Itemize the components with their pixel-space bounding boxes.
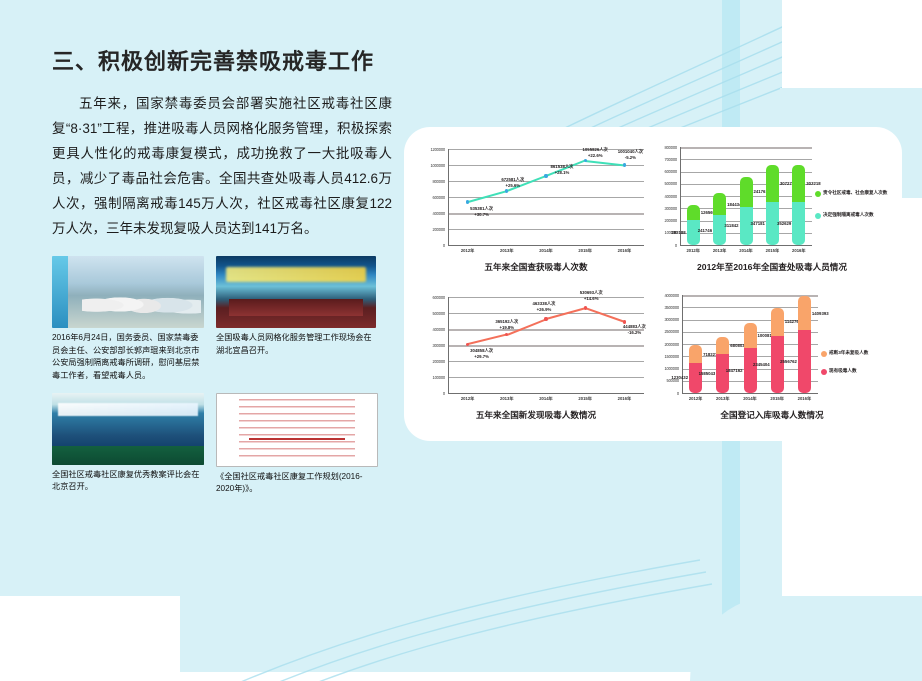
- data-label: 530693人次+14.6%: [580, 290, 603, 301]
- gridline: [448, 229, 644, 230]
- y-axis-tick: 100000: [422, 375, 445, 380]
- y-axis-tick: 400000: [422, 211, 445, 216]
- legend-label: 责令社区戒毒、社会康复人次数: [823, 190, 888, 197]
- y-axis-tick: 1200000: [422, 147, 445, 152]
- y-axis-tick: 0: [654, 391, 679, 396]
- legend-label: 决定强制隔离戒毒人次数: [823, 212, 888, 219]
- stacked-bar: [740, 177, 753, 245]
- data-point: [544, 174, 547, 177]
- data-label: 1055826人次+22.6%: [583, 147, 608, 158]
- photo-item: 2016年6月24日，国务委员、国家禁毒委员会主任、公安部部长郭声琨来到北京市公…: [52, 256, 204, 383]
- y-axis-tick: 600000: [422, 295, 445, 300]
- photo-work-plan-document: [216, 393, 378, 467]
- data-label: 535381人次+30.7%: [470, 206, 493, 217]
- data-point: [584, 306, 587, 309]
- x-axis-tick: 2014年: [736, 396, 763, 402]
- y-axis-tick: 400000: [654, 194, 677, 199]
- gridline: [448, 181, 644, 182]
- bar-segment-bottom: [771, 336, 784, 393]
- charts-panel: 0200000400000600000800000100000012000005…: [404, 127, 902, 441]
- bar-segment-top: [740, 177, 753, 207]
- y-axis-tick: 200000: [654, 218, 677, 223]
- photo-grid: 2016年6月24日，国务委员、国家禁毒委员会主任、公安部部长郭声琨来到北京市公…: [52, 256, 388, 496]
- y-axis-tick: 600000: [422, 195, 445, 200]
- y-axis-tick: 200000: [422, 227, 445, 232]
- bar-segment-top: [798, 296, 811, 331]
- x-axis-tick: 2012年: [448, 248, 487, 254]
- photo-item: 全国社区戒毒社区康复优秀教案评比会在北京召开。: [52, 393, 204, 496]
- x-axis: [448, 393, 644, 394]
- data-label: 2345404: [753, 362, 770, 367]
- bar-segment-bottom: [689, 363, 702, 393]
- legend-label: 现有吸毒人数: [829, 368, 888, 375]
- photo-inspection: [52, 256, 204, 328]
- data-label: 304858人次+29.7%: [470, 348, 493, 359]
- chart-registered-drug-users: 0500000100000015000002000000250000030000…: [654, 289, 890, 429]
- data-label: 718227: [703, 352, 717, 357]
- photo-item: 全国吸毒人员网格化服务管理工作现场会在湖北宜昌召开。: [216, 256, 376, 383]
- stacked-bar: [713, 193, 726, 245]
- y-axis-tick: 400000: [422, 327, 445, 332]
- data-label: 352629: [777, 221, 791, 226]
- stacked-bar: [744, 323, 757, 393]
- x-axis-tick: 2012年: [680, 248, 706, 254]
- y-axis-tick: 300000: [422, 343, 445, 348]
- photo-caption: 2016年6月24日，国务委员、国家禁毒委员会主任、公安部部长郭声琨来到北京市公…: [52, 332, 204, 383]
- photo-caption: 《全国社区戒毒社区康复工作规划(2016-2020年)》。: [216, 471, 376, 496]
- x-axis-tick: 2013年: [709, 396, 736, 402]
- data-label: 1230432: [671, 375, 688, 380]
- x-axis-tick: 2015年: [566, 248, 605, 254]
- y-axis-tick: 0: [422, 243, 445, 248]
- y-axis-tick: 0: [422, 391, 445, 396]
- y-axis: [448, 297, 449, 393]
- line-segment: [585, 307, 625, 322]
- y-axis-tick: 1000000: [422, 163, 445, 168]
- x-axis-tick: 2015年: [759, 248, 785, 254]
- x-axis: [448, 245, 644, 246]
- gridline: [448, 329, 644, 331]
- gridline: [448, 297, 644, 298]
- legend-marker: [815, 191, 821, 197]
- bar-segment-top: [689, 345, 702, 363]
- bar-segment-bottom: [744, 348, 757, 393]
- gridline: [680, 159, 812, 160]
- x-axis: [680, 245, 812, 246]
- legend-marker: [821, 351, 827, 357]
- x-axis-tick: 2013年: [487, 248, 526, 254]
- data-label: 241746: [698, 228, 712, 233]
- data-label: 365192人次+19.8%: [495, 319, 518, 330]
- y-axis-tick: 800000: [654, 145, 677, 150]
- photo-grid-service-meeting: [216, 256, 376, 328]
- x-axis-tick: 2016年: [791, 396, 818, 402]
- y-axis-tick: 300000: [654, 206, 677, 211]
- data-point: [584, 159, 587, 162]
- data-label: 861538人次+28.1%: [551, 164, 574, 175]
- photo-teaching-case-review: [52, 393, 204, 465]
- y-axis-tick: 0: [654, 243, 677, 248]
- y-axis: [448, 149, 449, 245]
- y-axis-tick: 800000: [422, 179, 445, 184]
- data-label: 203188: [671, 230, 685, 235]
- x-axis-tick: 2013年: [487, 396, 526, 402]
- x-axis: [682, 393, 818, 394]
- bar-segment-top: [713, 193, 726, 216]
- y-axis-tick: 600000: [654, 169, 677, 174]
- gridline: [680, 147, 812, 149]
- stacked-bar: [771, 308, 784, 393]
- x-axis-tick: 2016年: [786, 248, 812, 254]
- gridline: [448, 165, 644, 166]
- data-label: 1585043: [699, 371, 716, 376]
- data-point: [505, 189, 508, 192]
- legend-label: 戒断3年未复吸人数: [829, 350, 888, 357]
- x-axis-tick: 2012年: [448, 396, 487, 402]
- data-label: 1409393: [812, 311, 829, 316]
- data-label: 303218: [806, 181, 820, 186]
- gridline: [448, 361, 644, 362]
- x-axis-tick: 2014年: [733, 248, 759, 254]
- bar-segment-bottom: [716, 354, 729, 393]
- chart-title: 五年来全国新发现吸毒人数情况: [422, 409, 650, 421]
- x-axis-tick: 2016年: [605, 396, 644, 402]
- x-axis-tick: 2014年: [526, 248, 565, 254]
- data-label: 1847162: [726, 368, 743, 373]
- y-axis-tick: 500000: [654, 181, 677, 186]
- y-axis-tick: 500000: [422, 311, 445, 316]
- y-axis-tick: 4000000: [654, 293, 679, 298]
- body-paragraph: 五年来，国家禁毒委员会部署实施社区戒毒社区康复“8·31”工程，推进吸毒人员网格…: [52, 92, 392, 242]
- bar-segment-bottom: [713, 215, 726, 245]
- x-axis-tick: 2012年: [682, 396, 709, 402]
- y-axis-tick: 1000000: [654, 366, 679, 371]
- stacked-bar: [716, 337, 729, 393]
- y-axis-tick: 3000000: [654, 317, 679, 322]
- data-label: 1001040人次-5.2%: [618, 149, 643, 160]
- stacked-bar: [792, 165, 805, 245]
- y-axis-tick: 200000: [422, 359, 445, 364]
- data-label: 444883人次-16.2%: [623, 324, 646, 335]
- data-point: [544, 317, 547, 320]
- data-label: 672581人次+25.6%: [501, 177, 524, 188]
- bar-segment-top: [716, 337, 729, 354]
- data-label: 347181: [751, 221, 765, 226]
- bar-segment-bottom: [798, 330, 811, 393]
- gridline: [448, 149, 644, 150]
- bar-segment-top: [744, 323, 757, 348]
- data-label: 2556762: [780, 359, 797, 364]
- x-axis-tick: 2015年: [566, 396, 605, 402]
- photo-caption: 全国社区戒毒社区康复优秀教案评比会在北京召开。: [52, 469, 204, 494]
- stacked-bar: [689, 345, 702, 393]
- x-axis-tick: 2013年: [706, 248, 732, 254]
- line-segment: [467, 334, 507, 345]
- x-axis-tick: 2014年: [526, 396, 565, 402]
- chart-title: 2012年至2016年全国查处吸毒人员情况: [654, 261, 890, 273]
- stacked-bar: [798, 296, 811, 393]
- x-axis-tick: 2016年: [605, 248, 644, 254]
- chart-title: 全国登记入库吸毒人数情况: [654, 409, 890, 421]
- data-point: [623, 163, 626, 166]
- data-point: [505, 333, 508, 336]
- bar-segment-bottom: [792, 202, 805, 245]
- data-label: 311842: [724, 223, 738, 228]
- gridline: [448, 313, 644, 314]
- y-axis-tick: 2500000: [654, 329, 679, 334]
- x-axis-tick: 2015年: [764, 396, 791, 402]
- legend-marker: [821, 369, 827, 375]
- data-label: 463338人次+26.9%: [533, 301, 556, 312]
- photo-item: 《全国社区戒毒社区康复工作规划(2016-2020年)》。: [216, 393, 376, 496]
- y-axis-tick: 1500000: [654, 354, 679, 359]
- data-point: [466, 200, 469, 203]
- gridline: [448, 345, 644, 347]
- stacked-bar: [687, 205, 700, 245]
- content-column: 三、积极创新完善禁吸戒毒工作 五年来，国家禁毒委员会部署实施社区戒毒社区康复“8…: [52, 44, 392, 496]
- bar-segment-top: [766, 165, 779, 203]
- bar-segment-top: [792, 165, 805, 202]
- stacked-bar: [766, 165, 779, 245]
- bar-segment-top: [687, 205, 700, 221]
- chart-newly-found-drug-users: 0100000200000300000400000500000600000304…: [422, 289, 650, 429]
- y-axis-tick: 700000: [654, 157, 677, 162]
- chart-title: 五年来全国查获吸毒人次数: [422, 261, 650, 273]
- y-axis-tick: 3500000: [654, 305, 679, 310]
- gridline: [448, 377, 644, 378]
- bar-segment-top: [771, 308, 784, 336]
- legend-marker: [815, 213, 821, 219]
- data-label: 680803: [730, 343, 744, 348]
- chart-handled-drug-users: 0100000200000300000400000500000600000700…: [654, 141, 890, 281]
- y-axis-tick: 2000000: [654, 342, 679, 347]
- photo-caption: 全国吸毒人员网格化服务管理工作现场会在湖北宜昌召开。: [216, 332, 376, 357]
- page-title: 三、积极创新完善禁吸戒毒工作: [52, 44, 392, 76]
- chart-investigated-persons-trend: 0200000400000600000800000100000012000005…: [422, 141, 650, 281]
- bottom-left-white-shape: [0, 596, 180, 681]
